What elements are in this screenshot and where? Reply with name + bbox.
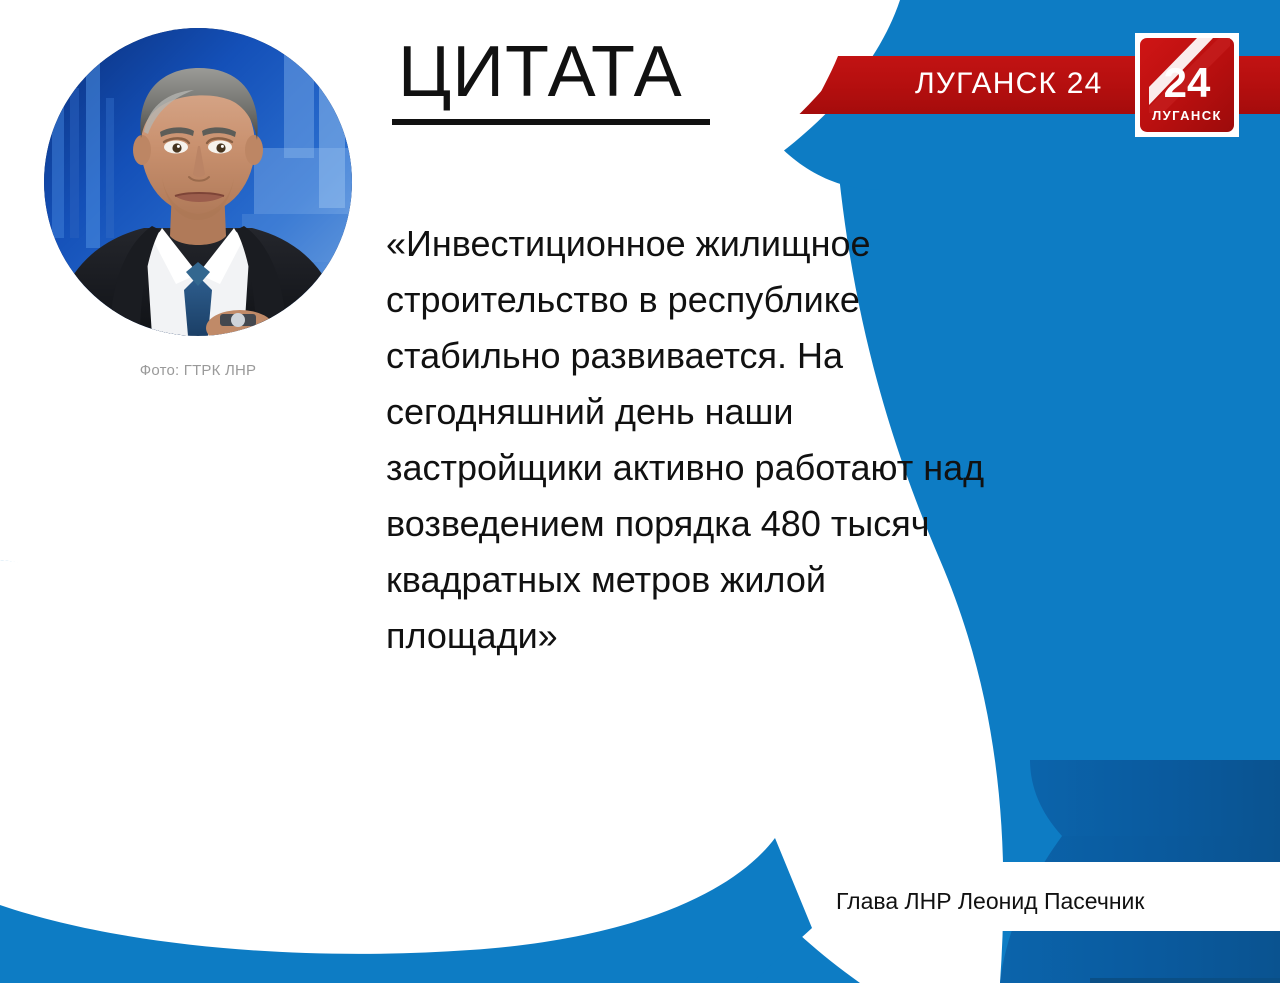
bottom-edge-line [1090,978,1280,983]
logo-city: ЛУГАНСК [1152,108,1222,123]
avatar-clip [44,28,352,336]
title-underline [392,119,710,125]
portrait-illustration [44,28,352,336]
attribution-white-band-upper [818,862,1280,884]
quote-text: «Инвестиционное жилищное строительство в… [386,216,986,664]
quote-card: Фото: ГТРК ЛНР ЦИТАТА ЛУГАНСК 24 24 ЛУГА… [0,0,1280,983]
photo-credit: Фото: ГТРК ЛНР [44,362,352,379]
avatar [44,28,352,336]
luhansk24-logo[interactable]: 24 ЛУГАНСК [1135,33,1239,137]
channel-name: ЛУГАНСК 24 [915,67,1103,101]
quote-attribution: Глава ЛНР Леонид Пасечник [836,888,1144,915]
logo-number: 24 [1164,59,1211,106]
bottom-right-deep-panel-upper [1030,760,1280,836]
logo-graphic: 24 ЛУГАНСК [1135,33,1239,137]
page-title: ЦИТАТА [398,36,683,108]
